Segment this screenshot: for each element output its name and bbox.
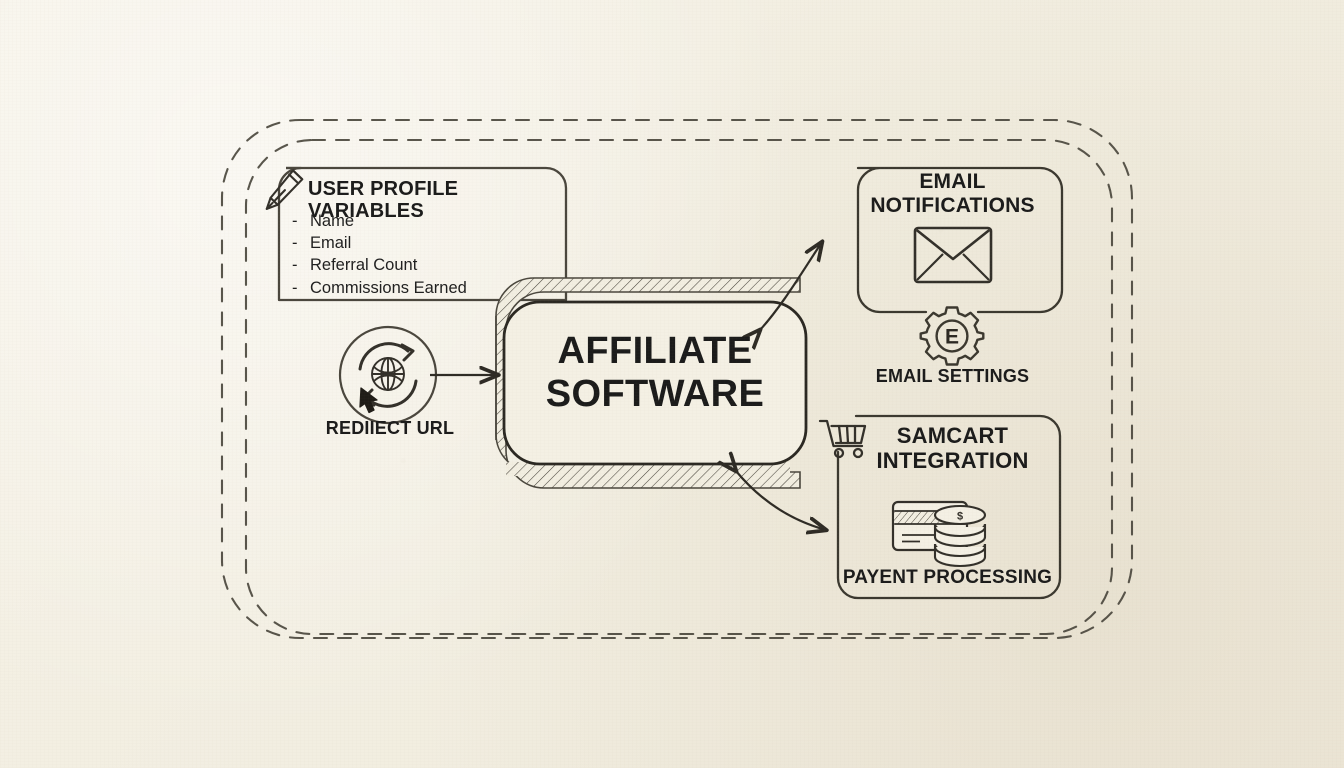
list-item: -Referral Count [292,254,562,276]
samcart-title: SAMCART INTEGRATION [845,424,1060,473]
email-settings-label: EMAIL SETTINGS [850,366,1055,386]
list-item: -Name [292,210,562,232]
diagram-canvas: E [0,0,1344,768]
pencil-icon [266,170,303,209]
list-bullet: - [292,254,310,276]
list-item-label: Referral Count [310,256,417,274]
list-item-label: Email [310,234,351,252]
envelope-icon [915,228,991,282]
email-notifications-title: EMAIL NOTIFICATIONS [855,170,1050,217]
svg-text:E: E [945,326,959,349]
svg-text:$: $ [957,511,963,523]
center-to-samcart-arrow [736,471,826,530]
gear-icon: E [921,308,984,365]
list-bullet: - [292,277,310,299]
redirect-url-icon [340,327,436,423]
list-bullet: - [292,232,310,254]
list-item: -Commissions Earned [292,277,562,299]
payment-processing-label: PAYENT PROCESSING [830,567,1065,588]
list-bullet: - [292,210,310,232]
list-item-label: Commissions Earned [310,279,467,297]
user-profile-list: -Name -Email -Referral Count -Commission… [292,210,562,299]
list-item: -Email [292,232,562,254]
list-item-label: Name [310,212,354,230]
center-node-title: AFFILIATE SOFTWARE [505,330,805,417]
center-to-email-arrow [760,242,822,330]
credit-card-coins-icon: $ [893,502,985,566]
redirect-url-label: REDIIECT URL [305,418,475,438]
